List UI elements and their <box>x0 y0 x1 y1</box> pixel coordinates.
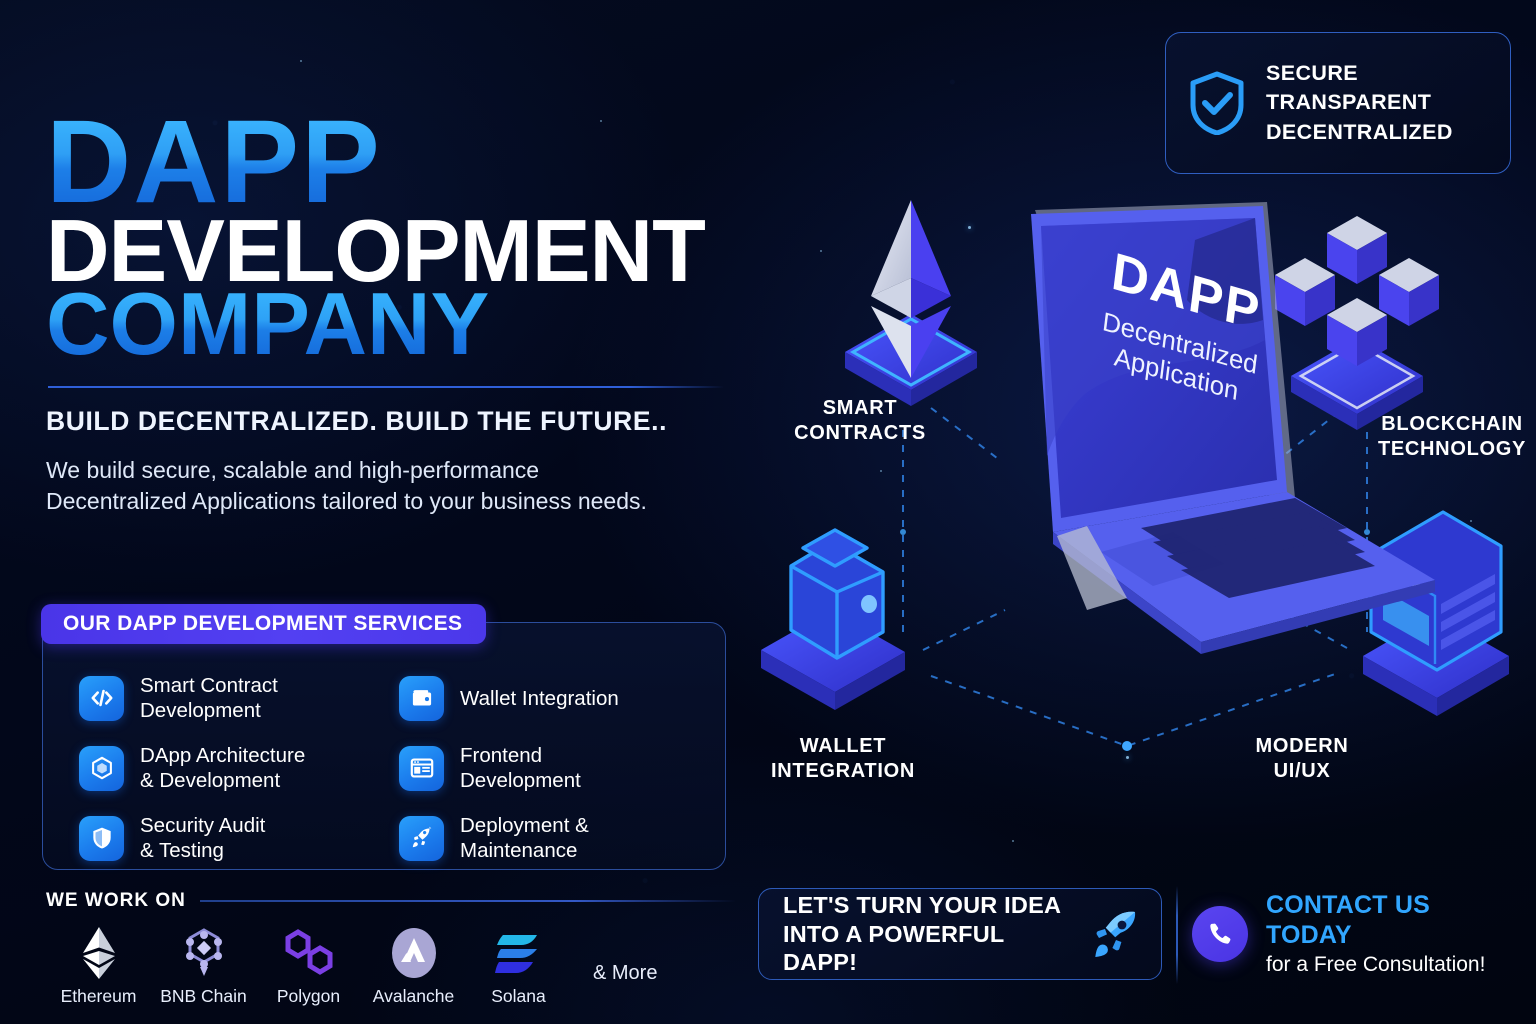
chain-more-label: & More <box>593 962 657 985</box>
shield-check-icon <box>1188 71 1246 135</box>
services-grid: Smart Contract Development Wallet Integr… <box>43 669 725 867</box>
chain-name: Ethereum <box>46 986 151 1007</box>
service-label-line-2: & Testing <box>140 838 265 863</box>
secure-badge-line-3: DECENTRALIZED <box>1266 118 1453 147</box>
title-divider <box>48 386 724 388</box>
cta-contact-block[interactable]: CONTACT US TODAY for a Free Consultation… <box>1192 890 1522 978</box>
node-label-line-2: CONTRACTS <box>780 421 940 446</box>
node-label-line-1: BLOCKCHAIN <box>1372 412 1532 437</box>
node-label-line-1: MODERN <box>1222 734 1382 759</box>
service-label-line-2: & Development <box>140 768 305 793</box>
cta-left-line-1: LET'S TURN YOUR IDEA <box>783 891 1077 920</box>
hero-subcopy-line-1: We build secure, scalable and high-perfo… <box>46 455 746 486</box>
work-on-section: WE WORK ON Ethereum <box>46 890 736 1007</box>
service-item-deployment-maintenance[interactable]: Deployment & Maintenance <box>399 809 711 867</box>
hero-tagline: BUILD DECENTRALIZED. BUILD THE FUTURE.. <box>46 406 746 437</box>
phone-icon <box>1192 906 1248 962</box>
chain-item-polygon[interactable]: Polygon <box>256 924 361 1007</box>
services-card: OUR DAPP DEVELOPMENT SERVICES Smart Cont… <box>42 622 726 870</box>
node-label-line-2: TECHNOLOGY <box>1372 437 1532 462</box>
service-label-line-1: DApp Architecture <box>140 743 305 768</box>
solana-logo <box>466 924 571 982</box>
service-item-smart-contract-development[interactable]: Smart Contract Development <box>79 669 391 727</box>
cta-divider <box>1176 886 1178 984</box>
chain-item-solana[interactable]: Solana <box>466 924 571 1007</box>
service-label-line-1: Security Audit <box>140 813 265 838</box>
secure-badge-line-2: TRANSPARENT <box>1266 88 1453 117</box>
secure-transparent-decentralized-badge: SECURE TRANSPARENT DECENTRALIZED <box>1165 32 1511 174</box>
hero-block: DAPP DEVELOPMENT COMPANY BUILD DECENTRAL… <box>46 108 746 517</box>
ethereum-logo <box>46 924 151 982</box>
service-item-frontend-development[interactable]: Frontend Development <box>399 739 711 797</box>
chain-item-bnb-chain[interactable]: BNB Chain <box>151 924 256 1007</box>
window-3d-icon <box>1363 512 1509 716</box>
service-item-wallet-integration[interactable]: Wallet Integration <box>399 669 711 727</box>
layout-window-icon <box>399 746 444 791</box>
cube-network-icon <box>79 746 124 791</box>
chain-name: Solana <box>466 986 571 1007</box>
node-label-modern-uiux: MODERN UI/UX <box>1222 734 1382 784</box>
node-label-blockchain-technology: BLOCKCHAIN TECHNOLOGY <box>1372 412 1532 462</box>
service-label-line-1: Smart Contract <box>140 673 278 698</box>
chain-item-avalanche[interactable]: Avalanche <box>361 924 466 1007</box>
shield-icon <box>79 816 124 861</box>
blocks-3d-icon <box>1275 216 1439 430</box>
services-heading-badge: OUR DAPP DEVELOPMENT SERVICES <box>41 604 486 644</box>
rocket-icon <box>1087 906 1143 962</box>
service-label-line-1: Frontend <box>460 743 581 768</box>
service-label-line-1: Deployment & <box>460 813 589 838</box>
polygon-logo <box>256 924 361 982</box>
chain-name: Avalanche <box>361 986 466 1007</box>
chain-name: BNB Chain <box>151 986 256 1007</box>
service-label-line-2: Development <box>140 698 278 723</box>
service-label-line-2: Maintenance <box>460 838 589 863</box>
node-label-line-1: SMART <box>780 396 940 421</box>
chain-list: Ethereum BNB Chain <box>46 924 736 1007</box>
cta-right-line-2: for a Free Consultation! <box>1266 952 1522 977</box>
code-brackets-icon <box>79 676 124 721</box>
avalanche-logo <box>361 924 466 982</box>
secure-badge-line-1: SECURE <box>1266 59 1453 88</box>
cta-left-line-2: INTO A POWERFUL DAPP! <box>783 920 1077 977</box>
rocket-icon <box>399 816 444 861</box>
dapp-ecosystem-illustration: DAPP Decentralized Application <box>735 180 1535 820</box>
work-on-label: WE WORK ON <box>46 890 186 912</box>
wallet-3d-icon <box>761 530 905 710</box>
node-label-line-1: WALLET <box>755 734 931 759</box>
ethereum-3d-icon <box>845 200 977 406</box>
service-item-security-audit[interactable]: Security Audit & Testing <box>79 809 391 867</box>
node-label-line-2: UI/UX <box>1222 759 1382 784</box>
services-heading-label: OUR DAPP DEVELOPMENT SERVICES <box>63 612 462 636</box>
node-label-wallet-integration: WALLET INTEGRATION <box>755 734 931 784</box>
service-label-line-2: Development <box>460 768 581 793</box>
poster-canvas: DAPP DEVELOPMENT COMPANY BUILD DECENTRAL… <box>0 0 1536 1024</box>
bnb-chain-logo <box>151 924 256 982</box>
chain-name: Polygon <box>256 986 361 1007</box>
chain-item-ethereum[interactable]: Ethereum <box>46 924 151 1007</box>
service-label-line-1: Wallet Integration <box>460 686 619 711</box>
cta-idea-banner[interactable]: LET'S TURN YOUR IDEA INTO A POWERFUL DAP… <box>758 888 1162 980</box>
node-label-smart-contracts: SMART CONTRACTS <box>780 396 940 446</box>
wallet-icon <box>399 676 444 721</box>
service-item-dapp-architecture[interactable]: DApp Architecture & Development <box>79 739 391 797</box>
cta-right-line-1: CONTACT US TODAY <box>1266 890 1522 950</box>
hero-subcopy-line-2: Decentralized Applications tailored to y… <box>46 486 746 517</box>
node-label-line-2: INTEGRATION <box>755 759 931 784</box>
work-on-divider <box>200 900 736 902</box>
